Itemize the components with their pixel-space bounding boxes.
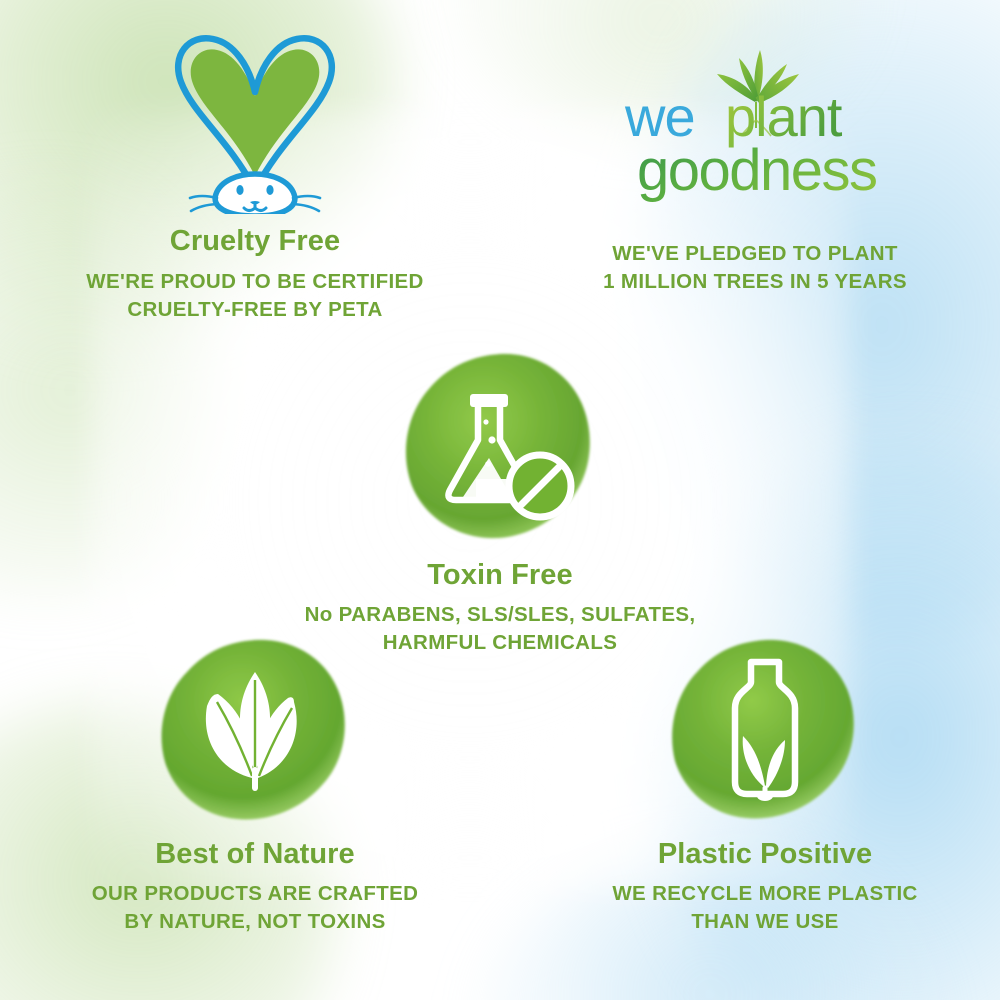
badge-cruelty-free: Cruelty Free WE'RE PROUD TO BE CERTIFIED… [20, 24, 490, 323]
badge-subtitle: WE'RE PROUD TO BE CERTIFIED CRUELTY-FREE… [20, 268, 490, 323]
badge-title: Cruelty Free [20, 226, 490, 258]
bunny-heart-icon-wrap [20, 24, 490, 214]
badge-subtitle: WE'VE PLEDGED TO PLANT 1 MILLION TREES I… [520, 240, 990, 295]
bottle-sprout-icon-wrap [540, 636, 990, 826]
we-plant-goodness-logo: we plant goodness [605, 24, 905, 214]
flask-no-toxins-icon [400, 348, 600, 548]
badge-subtitle: WE RECYCLE MORE PLASTIC THAN WE USE [540, 880, 990, 935]
logo-word-goodness: goodness [637, 138, 877, 203]
badge-title: Toxin Free [275, 560, 725, 592]
flask-no-toxins-icon-wrap [275, 348, 725, 548]
badge-subtitle: OUR PRODUCTS ARE CRAFTED BY NATURE, NOT … [30, 880, 480, 935]
infographic-content: Cruelty Free WE'RE PROUD TO BE CERTIFIED… [0, 0, 1000, 1000]
badge-title: Plastic Positive [540, 839, 990, 871]
we-plant-goodness-logo-wrap: we plant goodness [520, 24, 990, 214]
badge-toxin-free: Toxin Free No PARABENS, SLS/SLES, SULFAT… [275, 348, 725, 656]
badge-best-of-nature: Best of Nature OUR PRODUCTS ARE CRAFTED … [30, 636, 480, 935]
badge-plant-goodness: we plant goodness WE'VE PLEDGED TO PLANT… [520, 24, 990, 295]
badge-plastic-positive: Plastic Positive WE RECYCLE MORE PLASTIC… [540, 636, 990, 935]
bunny-heart-icon [155, 24, 355, 214]
bottle-sprout-icon [665, 636, 865, 826]
three-leaves-icon-wrap [30, 636, 480, 826]
three-leaves-icon [155, 636, 355, 826]
badge-title: Best of Nature [30, 839, 480, 871]
